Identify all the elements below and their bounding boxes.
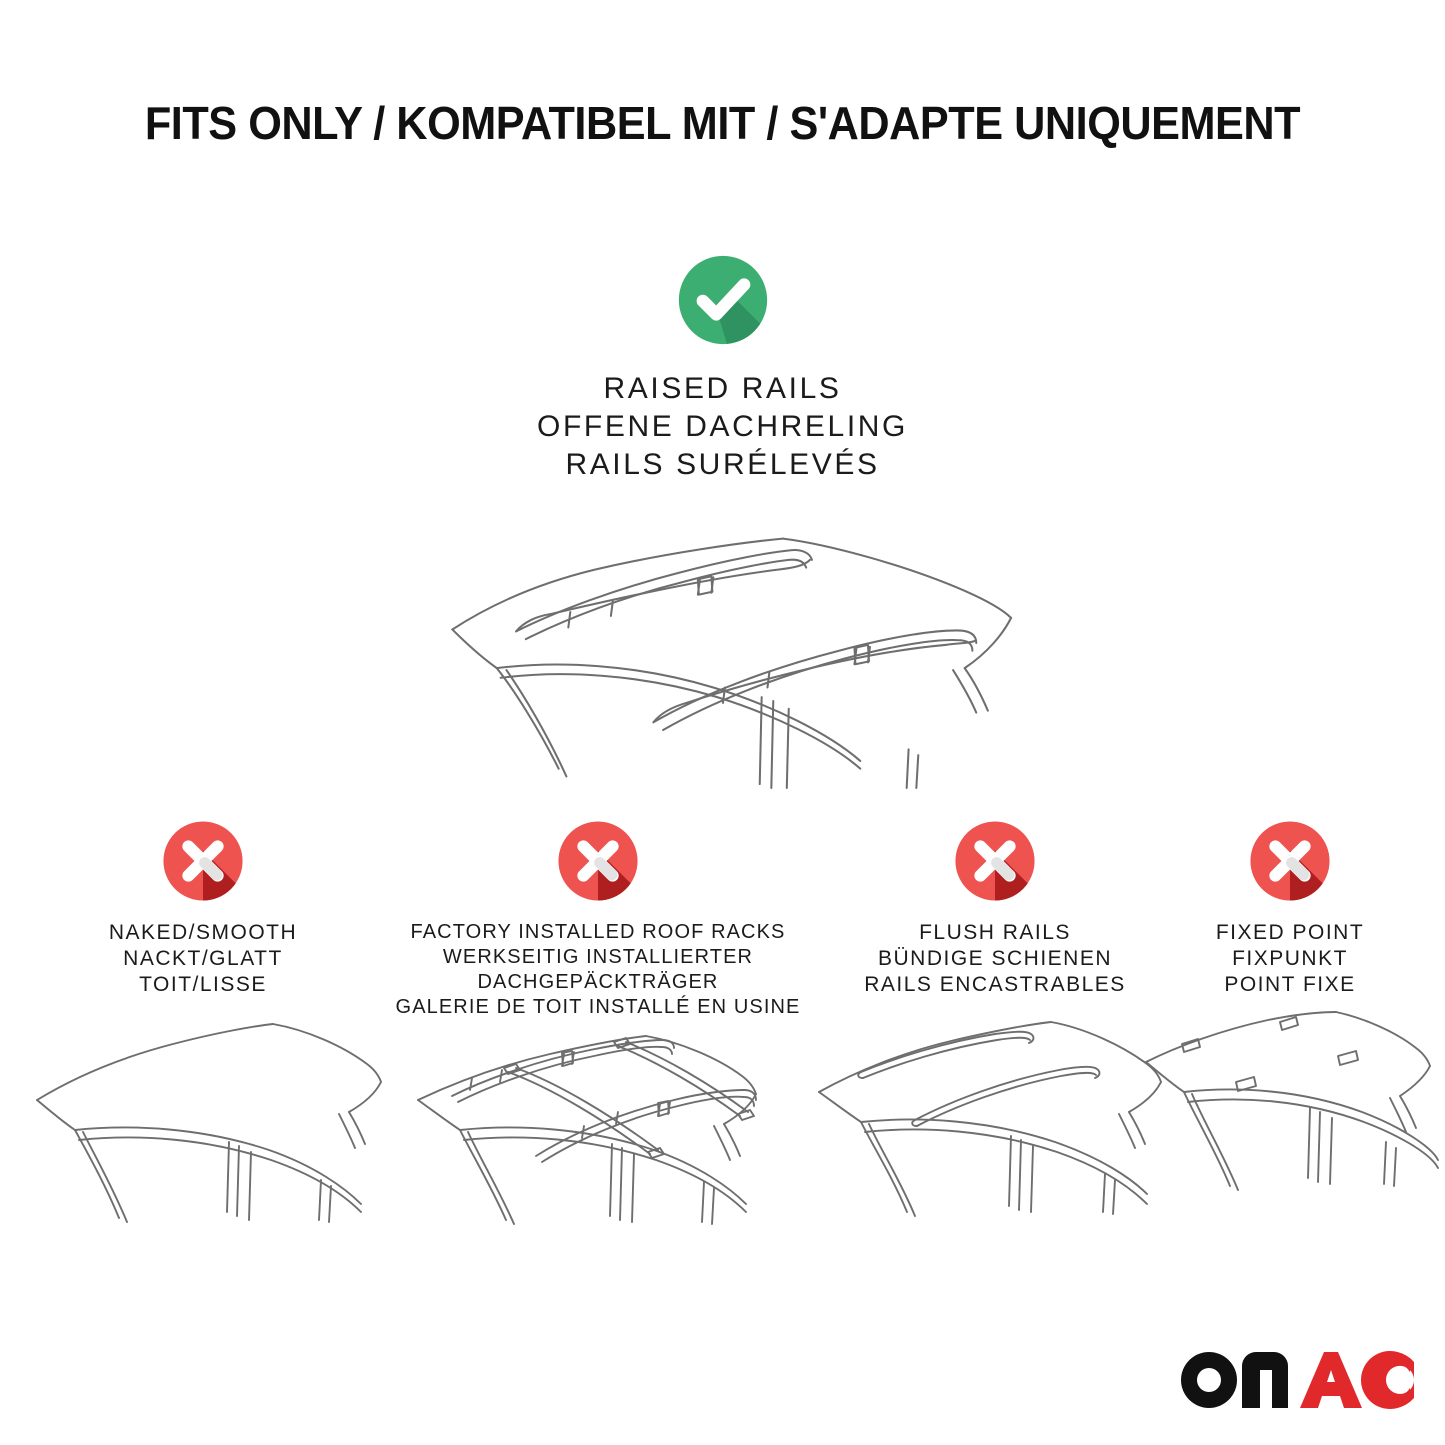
cross-circle-icon — [952, 818, 1038, 904]
compatible-label-line-de: OFFENE DACHRELING — [537, 408, 908, 446]
compatible-label: RAISED RAILS OFFENE DACHRELING RAILS SUR… — [537, 370, 908, 484]
car-roof-fixed-point-illustration — [1142, 1006, 1438, 1236]
car-roof-factory-roof-racks-illustration — [412, 1020, 784, 1260]
label-line-fr: RAILS ENCASTRABLES — [864, 972, 1126, 998]
label-line-en: FLUSH RAILS — [864, 920, 1126, 946]
cross-circle-icon — [1247, 818, 1333, 904]
label-line-de-1: WERKSEITIG INSTALLIERTER — [396, 945, 801, 970]
incompatible-option-flush-rails: FLUSH RAILS BÜNDIGE SCHIENEN RAILS ENCAS… — [800, 818, 1190, 1236]
incompatible-label-fixed-point: FIXED POINT FIXPUNKT POINT FIXE — [1216, 920, 1364, 998]
compatible-option: RAISED RAILS OFFENE DACHRELING RAILS SUR… — [0, 252, 1445, 788]
label-line-en: FIXED POINT — [1216, 920, 1364, 946]
label-line-fr: TOIT/LISSE — [109, 972, 297, 998]
car-roof-naked-smooth-illustration — [23, 1004, 383, 1234]
incompatible-label-factory-roof-racks: FACTORY INSTALLED ROOF RACKS WERKSEITIG … — [396, 920, 801, 1020]
cross-circle-icon — [555, 818, 641, 904]
car-roof-raised-rails-illustration — [413, 498, 1033, 788]
compatible-label-line-fr: RAILS SURÉLEVÉS — [537, 446, 908, 484]
incompatible-option-fixed-point: FIXED POINT FIXPUNKT POINT FIXE — [1145, 818, 1435, 1236]
compatible-label-line-en: RAISED RAILS — [537, 370, 908, 408]
label-line-de: BÜNDIGE SCHIENEN — [864, 946, 1126, 972]
page-title: FITS ONLY / KOMPATIBEL MIT / S'ADAPTE UN… — [43, 96, 1401, 150]
label-line-de: NACKT/GLATT — [109, 946, 297, 972]
label-line-en: FACTORY INSTALLED ROOF RACKS — [396, 920, 801, 945]
cross-circle-icon — [160, 818, 246, 904]
omac-logo — [1178, 1348, 1414, 1412]
check-circle-icon — [675, 252, 771, 348]
label-line-fr: GALERIE DE TOIT INSTALLÉ EN USINE — [396, 995, 801, 1020]
incompatible-label-flush-rails: FLUSH RAILS BÜNDIGE SCHIENEN RAILS ENCAS… — [864, 920, 1126, 998]
label-line-de-2: DACHGEPÄCKTRÄGER — [396, 970, 801, 995]
label-line-de: FIXPUNKT — [1216, 946, 1364, 972]
label-line-fr: POINT FIXE — [1216, 972, 1364, 998]
incompatible-label-naked-smooth: NAKED/SMOOTH NACKT/GLATT TOIT/LISSE — [109, 920, 297, 998]
car-roof-flush-rails-illustration — [811, 1006, 1179, 1236]
incompatible-options-row: NAKED/SMOOTH NACKT/GLATT TOIT/LISSE — [0, 818, 1445, 1288]
incompatible-option-factory-roof-racks: FACTORY INSTALLED ROOF RACKS WERKSEITIG … — [400, 818, 796, 1260]
label-line-en: NAKED/SMOOTH — [109, 920, 297, 946]
incompatible-option-naked-smooth: NAKED/SMOOTH NACKT/GLATT TOIT/LISSE — [10, 818, 396, 1234]
